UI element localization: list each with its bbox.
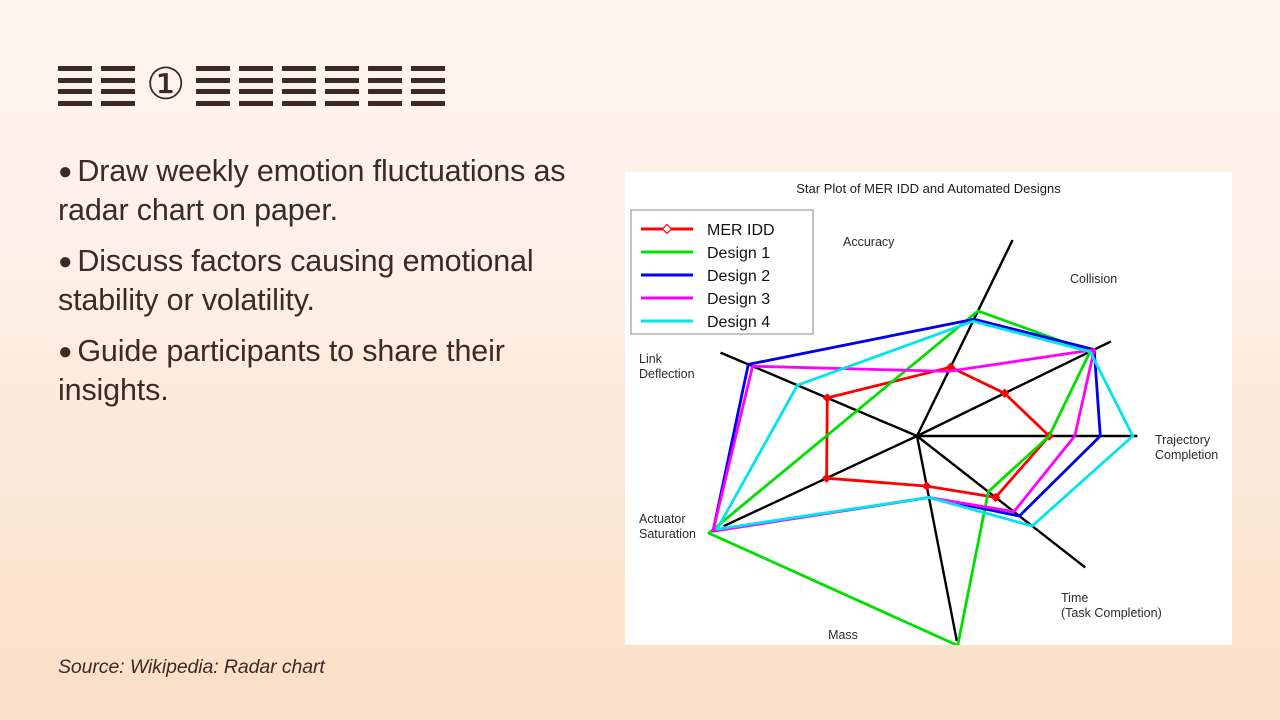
axis-spoke-accuracy bbox=[917, 240, 1013, 436]
legend-label-design-2: Design 2 bbox=[707, 268, 770, 285]
list-item: ●Discuss factors causing emotional stabi… bbox=[58, 242, 603, 320]
bullet-marker: ● bbox=[58, 158, 72, 185]
bullet-list: ●Draw weekly emotion fluctuations as rad… bbox=[58, 152, 603, 422]
missing-glyph-box bbox=[239, 65, 273, 107]
legend-label-design-3: Design 3 bbox=[707, 291, 770, 308]
source-note: Source: Wikipedia: Radar chart bbox=[58, 656, 325, 679]
missing-glyph-box bbox=[282, 65, 316, 107]
chart-legend: MER IDDDesign 1Design 2Design 3Design 4 bbox=[631, 210, 813, 334]
missing-glyph-box bbox=[101, 65, 135, 107]
axis-label-trajectory-completion: TrajectoryCompletion bbox=[1155, 433, 1218, 462]
bullet-marker: ● bbox=[58, 248, 72, 275]
missing-glyph-box bbox=[196, 65, 230, 107]
legend-label-mer-idd: MER IDD bbox=[707, 222, 775, 239]
axis-label-mass: Mass bbox=[828, 628, 858, 642]
list-item-text: Discuss factors causing emotional stabil… bbox=[58, 244, 534, 317]
list-item: ●Guide participants to share their insig… bbox=[58, 332, 603, 410]
list-item: ●Draw weekly emotion fluctuations as rad… bbox=[58, 152, 603, 230]
axis-spoke-mass bbox=[917, 436, 957, 641]
radar-chart-figure: Star Plot of MER IDD and Automated Desig… bbox=[625, 172, 1232, 645]
series-polygon-design-2 bbox=[713, 319, 1100, 531]
series-marker-diamond bbox=[823, 474, 831, 482]
axis-label-link-deflection: LinkDeflection bbox=[639, 352, 695, 381]
page-title: ① bbox=[58, 58, 445, 114]
list-item-text: Guide participants to share their insigh… bbox=[58, 334, 505, 407]
missing-glyph-box bbox=[325, 65, 359, 107]
axis-label-time-task-completion: Time(Task Completion) bbox=[1061, 591, 1162, 620]
axis-spoke-collision bbox=[917, 341, 1111, 436]
axis-label-actuator-saturation: ActuatorSaturation bbox=[639, 512, 696, 541]
series-marker-diamond bbox=[923, 482, 931, 490]
series-marker-diamond bbox=[823, 394, 831, 402]
radar-chart-svg: AccuracyCollisionTrajectoryCompletionTim… bbox=[625, 172, 1232, 645]
missing-glyph-box bbox=[411, 65, 445, 107]
legend-label-design-1: Design 1 bbox=[707, 245, 770, 262]
missing-glyph-box bbox=[58, 65, 92, 107]
missing-glyph-box bbox=[368, 65, 402, 107]
axis-label-collision: Collision bbox=[1070, 272, 1117, 286]
circled-number-one: ① bbox=[146, 63, 185, 107]
bullet-marker: ● bbox=[58, 338, 72, 365]
axis-label-accuracy: Accuracy bbox=[843, 235, 895, 249]
legend-label-design-4: Design 4 bbox=[707, 314, 770, 331]
list-item-text: Draw weekly emotion fluctuations as rada… bbox=[58, 154, 565, 227]
